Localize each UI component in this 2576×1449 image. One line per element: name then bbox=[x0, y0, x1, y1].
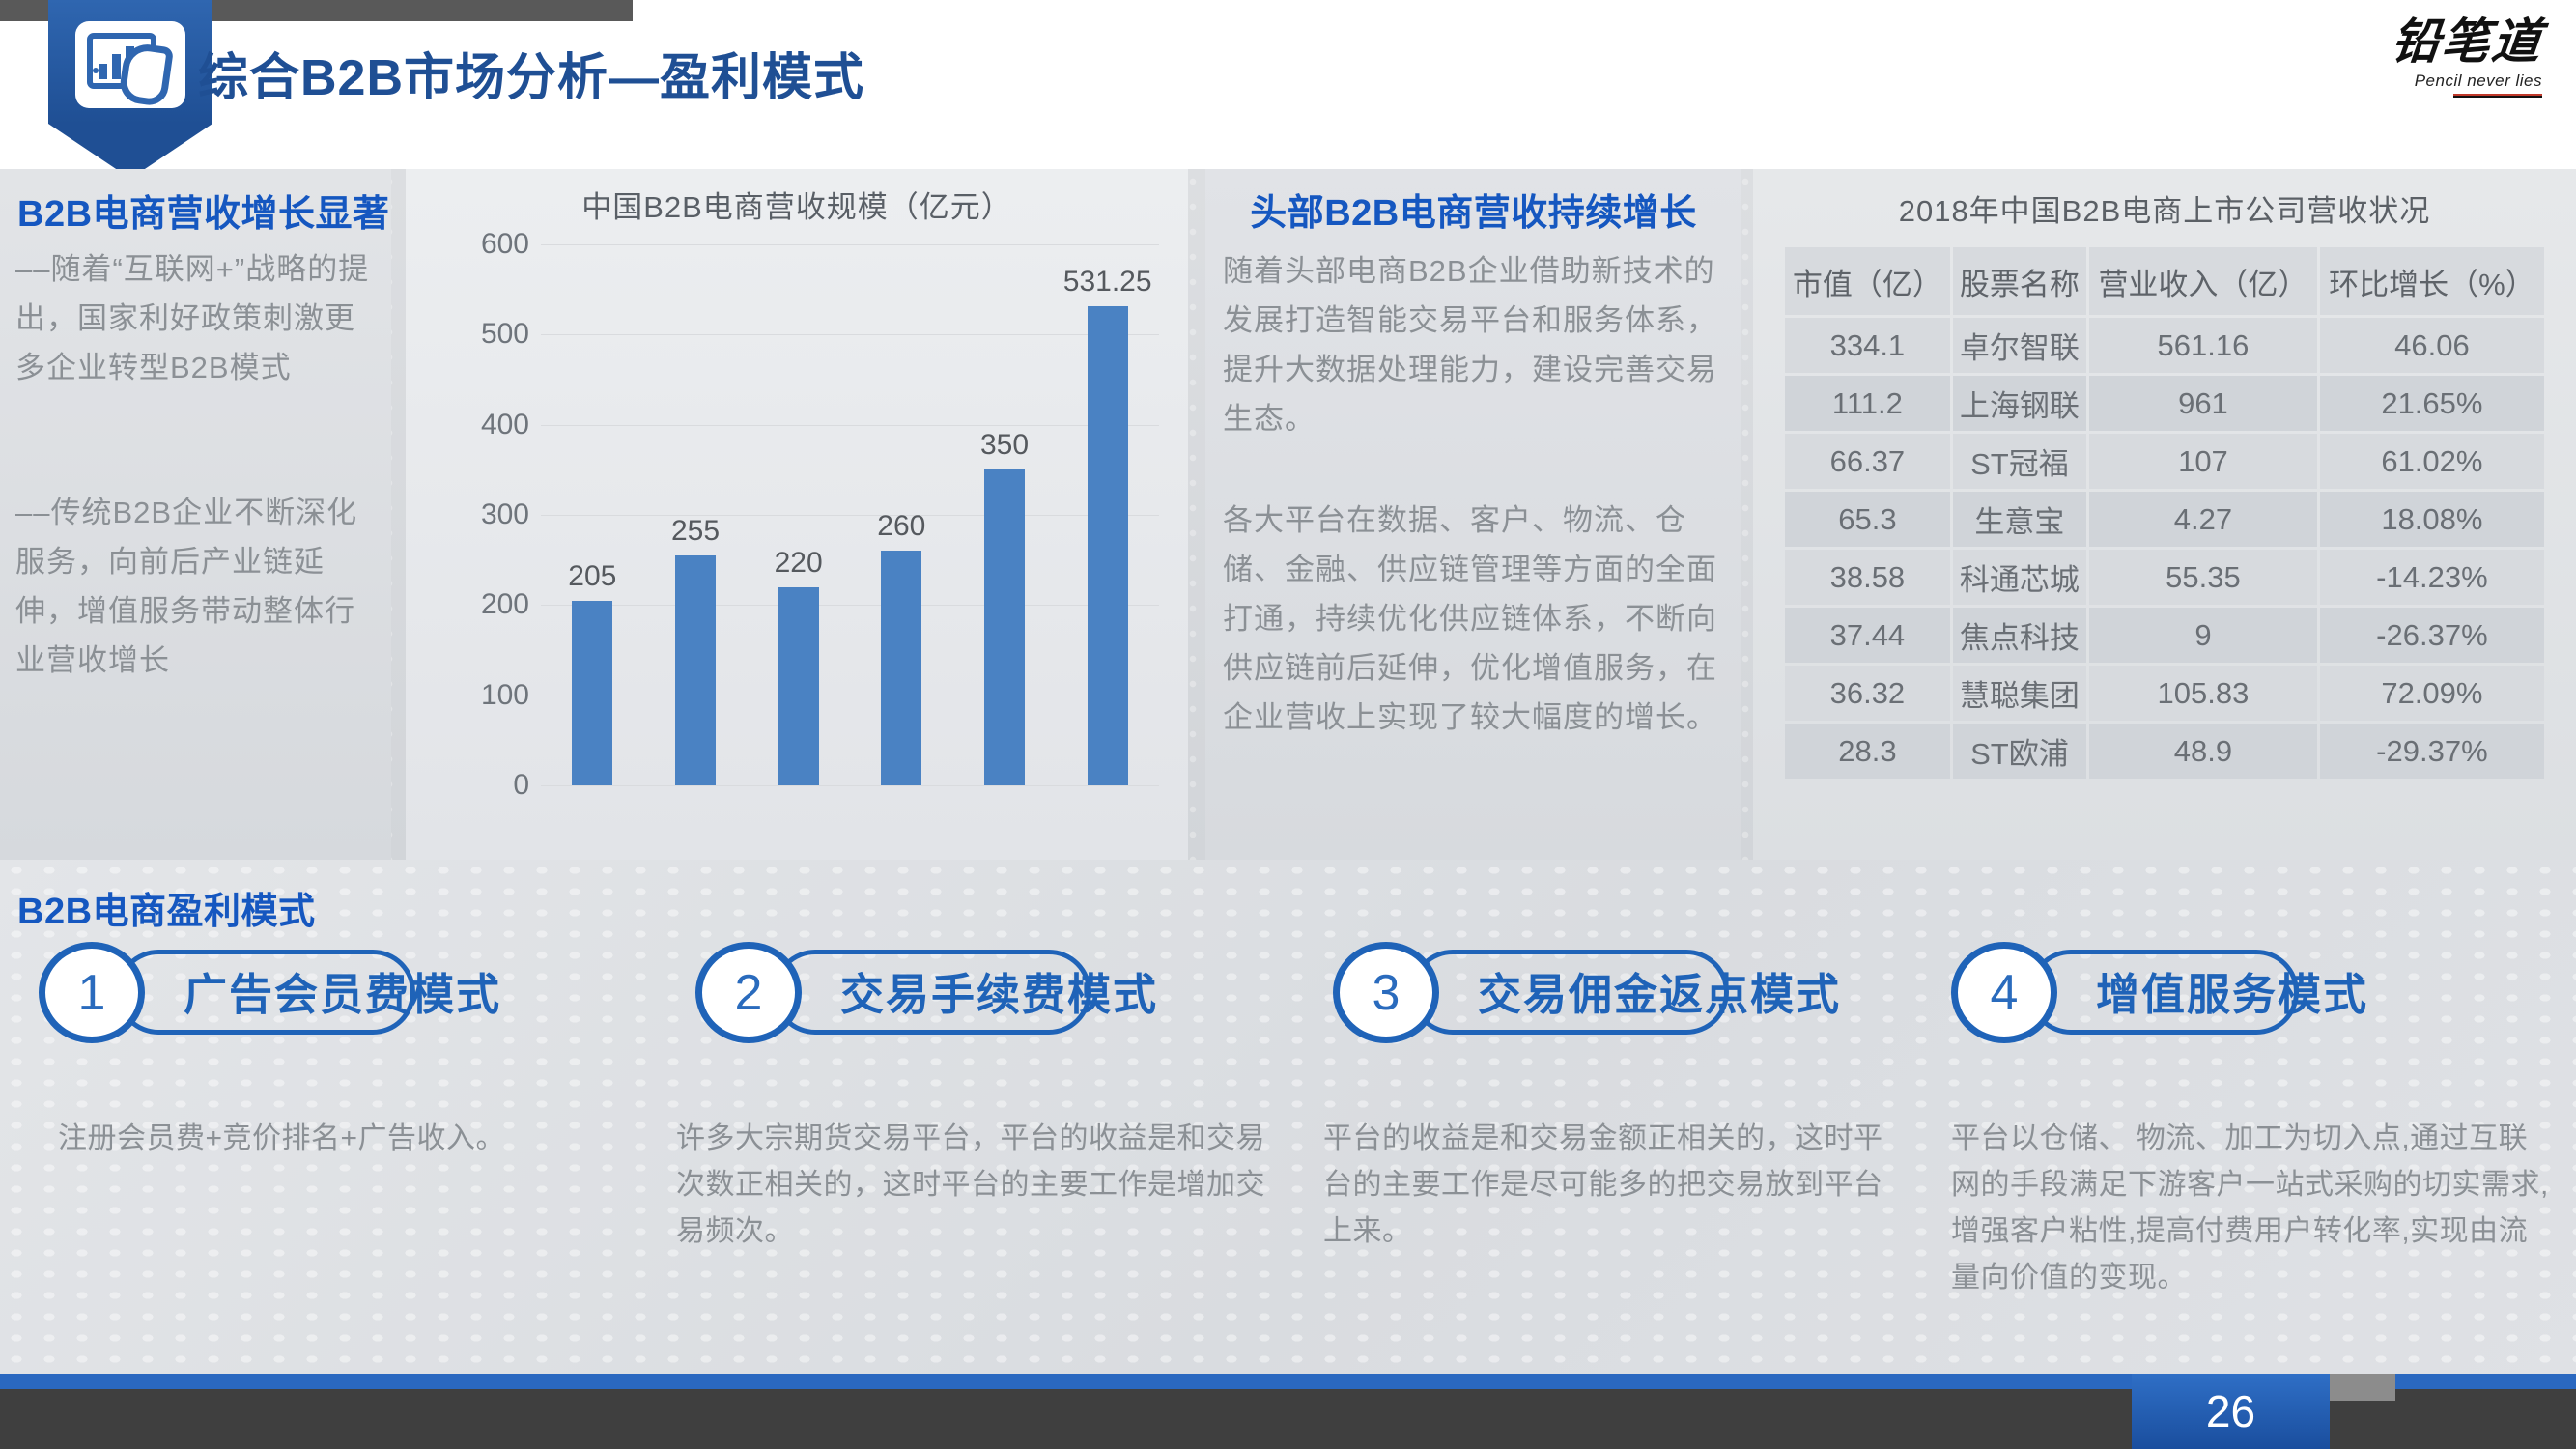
listed-companies-table-panel: 2018年中国B2B电商上市公司营收状况 市值（亿）股票名称营业收入（亿）环比增… bbox=[1753, 169, 2576, 860]
chart-data-label: 260 bbox=[850, 510, 953, 543]
models-section-heading: B2B电商盈利模式 bbox=[17, 881, 316, 934]
table-cell: -29.37% bbox=[2320, 724, 2544, 779]
chart-data-label: 350 bbox=[953, 429, 1057, 462]
table-row: 66.37ST冠福10761.02% bbox=[1785, 434, 2544, 489]
chart-y-tick: 300 bbox=[481, 498, 529, 531]
tablet-chart-hand-icon bbox=[48, 0, 212, 179]
chart-y-tick: 600 bbox=[481, 228, 529, 261]
table-row: 38.58科通芯城55.35-14.23% bbox=[1785, 550, 2544, 605]
chart-bar bbox=[984, 469, 1025, 785]
table-cell: 48.9 bbox=[2089, 724, 2317, 779]
chart-bar-group: 255 bbox=[644, 244, 748, 785]
chart-data-label: 531.25 bbox=[1056, 266, 1159, 298]
page-title: 综合B2B市场分析—盈利模式 bbox=[198, 37, 864, 109]
chart-bar-group: 220 bbox=[747, 244, 850, 785]
left-panel-paragraph-2: ––传统B2B企业不断深化服务，向前后产业链延伸，增值服务带动整体行业营收增长 bbox=[15, 488, 382, 685]
chart-bar bbox=[881, 551, 921, 785]
pill-number-badge: 1 bbox=[39, 942, 145, 1043]
profit-model-description-2: 许多大宗期货交易平台，平台的收益是和交易次数正相关的，这时平台的主要工作是增加交… bbox=[676, 1116, 1275, 1255]
pill-number-badge: 2 bbox=[695, 942, 802, 1043]
chart-bar bbox=[778, 587, 819, 785]
pill-label: 交易佣金返点模式 bbox=[1478, 959, 1841, 1022]
pill-number-badge: 4 bbox=[1951, 942, 2057, 1043]
table-row: 65.3生意宝4.2718.08% bbox=[1785, 492, 2544, 547]
table-cell: 111.2 bbox=[1785, 376, 1950, 431]
table-cell: 61.02% bbox=[2320, 434, 2544, 489]
table-cell: 上海钢联 bbox=[1953, 376, 2086, 431]
table-cell: 36.32 bbox=[1785, 666, 1950, 721]
middle-text-panel: 头部B2B电商营收持续增长 随着头部电商B2B企业借助新技术的发展打造智能交易平… bbox=[1205, 169, 1741, 860]
middle-panel-paragraph-1: 随着头部电商B2B企业借助新技术的发展打造智能交易平台和服务体系，提升大数据处理… bbox=[1223, 246, 1730, 443]
chart-title: 中国B2B电商营收规模（亿元） bbox=[406, 183, 1188, 226]
table-column-header: 市值（亿） bbox=[1785, 247, 1950, 315]
chart-gridline bbox=[541, 785, 1159, 786]
table-cell: -26.37% bbox=[2320, 608, 2544, 663]
profit-model-description-4: 平台以仓储、 物流、加工为切入点,通过互联网的手段满足下游客户一站式采购的切实需… bbox=[1951, 1116, 2555, 1301]
brand-tagline-en: Pencil never lies bbox=[2310, 71, 2542, 91]
chart-bar-group: 205 bbox=[541, 244, 644, 785]
table-cell: 18.08% bbox=[2320, 492, 2544, 547]
chart-y-tick: 200 bbox=[481, 588, 529, 621]
chart-bar bbox=[675, 555, 716, 785]
table-cell: ST冠福 bbox=[1953, 434, 2086, 489]
chart-data-label: 220 bbox=[747, 547, 850, 580]
chart-bar bbox=[1088, 306, 1128, 785]
chart-bar-group: 260 bbox=[850, 244, 953, 785]
table-cell: 65.3 bbox=[1785, 492, 1950, 547]
middle-panel-heading: 头部B2B电商营收持续增长 bbox=[1205, 183, 1741, 236]
chart-y-tick: 100 bbox=[481, 679, 529, 712]
table-column-header: 营业收入（亿） bbox=[2089, 247, 2317, 315]
table-row: 37.44焦点科技9-26.37% bbox=[1785, 608, 2544, 663]
table-column-header: 股票名称 bbox=[1953, 247, 2086, 315]
pill-number-badge: 3 bbox=[1333, 942, 1439, 1043]
chart-plot-area: 01002003004005006002013年2052014年2552015年… bbox=[541, 244, 1159, 785]
table-cell: 卓尔智联 bbox=[1953, 318, 2086, 373]
table-column-header: 环比增长（%） bbox=[2320, 247, 2544, 315]
listed-companies-table: 市值（亿）股票名称营业收入（亿）环比增长（%） 334.1卓尔智联561.164… bbox=[1782, 244, 2547, 781]
table-row: 334.1卓尔智联561.1646.06 bbox=[1785, 318, 2544, 373]
chart-y-tick: 400 bbox=[481, 409, 529, 441]
table-cell: 961 bbox=[2089, 376, 2317, 431]
slide-header: 综合B2B市场分析—盈利模式 铅笔道 Pencil never lies bbox=[0, 0, 2576, 169]
middle-panel-paragraph-2: 各大平台在数据、客户、物流、仓储、金融、供应链管理等方面的全面打通，持续优化供应… bbox=[1223, 496, 1730, 742]
left-panel-heading: B2B电商营收增长显著 bbox=[17, 184, 390, 237]
brand-logo: 铅笔道 Pencil never lies bbox=[2310, 17, 2542, 109]
table-cell: 561.16 bbox=[2089, 318, 2317, 373]
table-cell: 66.37 bbox=[1785, 434, 1950, 489]
chart-data-label: 205 bbox=[541, 560, 644, 593]
chart-bar-group: 350 bbox=[953, 244, 1057, 785]
table-cell: 慧聪集团 bbox=[1953, 666, 2086, 721]
table-cell: 55.35 bbox=[2089, 550, 2317, 605]
table-cell: 科通芯城 bbox=[1953, 550, 2086, 605]
table-cell: 焦点科技 bbox=[1953, 608, 2086, 663]
table-body: 334.1卓尔智联561.1646.06111.2上海钢联96121.65%66… bbox=[1785, 318, 2544, 779]
table-cell: 38.58 bbox=[1785, 550, 1950, 605]
pill-label: 交易手续费模式 bbox=[840, 959, 1158, 1022]
revenue-bar-chart-panel: 中国B2B电商营收规模（亿元） 01002003004005006002013年… bbox=[406, 169, 1188, 860]
page-number: 26 bbox=[2132, 1374, 2330, 1449]
table-cell: 46.06 bbox=[2320, 318, 2544, 373]
table-row: 28.3ST欧浦48.9-29.37% bbox=[1785, 724, 2544, 779]
page-tab-shadow bbox=[2330, 1374, 2395, 1401]
profit-model-description-1: 注册会员费+竞价排名+广告收入。 bbox=[58, 1116, 637, 1162]
table-cell: 72.09% bbox=[2320, 666, 2544, 721]
table-cell: -14.23% bbox=[2320, 550, 2544, 605]
chart-bar bbox=[572, 601, 612, 785]
left-text-panel: B2B电商营收增长显著 ––随着“互联网+”战略的提出，国家利好政策刺激更多企业… bbox=[0, 169, 391, 860]
table-row: 36.32慧聪集团105.8372.09% bbox=[1785, 666, 2544, 721]
table-cell: 105.83 bbox=[2089, 666, 2317, 721]
table-cell: 37.44 bbox=[1785, 608, 1950, 663]
table-cell: 9 bbox=[2089, 608, 2317, 663]
table-cell: 107 bbox=[2089, 434, 2317, 489]
table-title: 2018年中国B2B电商上市公司营收状况 bbox=[1753, 186, 2576, 230]
table-header-row: 市值（亿）股票名称营业收入（亿）环比增长（%） bbox=[1785, 247, 2544, 315]
brand-name-cn: 铅笔道 bbox=[2307, 17, 2544, 66]
chart-data-label: 255 bbox=[644, 515, 748, 548]
chart-y-tick: 500 bbox=[481, 318, 529, 351]
table-row: 111.2上海钢联96121.65% bbox=[1785, 376, 2544, 431]
left-panel-paragraph-1: ––随着“互联网+”战略的提出，国家利好政策刺激更多企业转型B2B模式 bbox=[15, 244, 382, 392]
table-cell: 4.27 bbox=[2089, 492, 2317, 547]
pill-label: 广告会员费模式 bbox=[184, 959, 501, 1022]
table-cell: 21.65% bbox=[2320, 376, 2544, 431]
chart-y-tick: 0 bbox=[513, 769, 529, 802]
table-cell: 28.3 bbox=[1785, 724, 1950, 779]
table-cell: ST欧浦 bbox=[1953, 724, 2086, 779]
table-cell: 334.1 bbox=[1785, 318, 1950, 373]
profit-model-description-3: 平台的收益是和交易金额正相关的，这时平台的主要工作是尽可能多的把交易放到平台上来… bbox=[1323, 1116, 1903, 1255]
table-cell: 生意宝 bbox=[1953, 492, 2086, 547]
chart-bar-group: 531.25 bbox=[1056, 244, 1159, 785]
pill-label: 增值服务模式 bbox=[2096, 959, 2368, 1022]
brand-rule bbox=[2453, 94, 2542, 98]
